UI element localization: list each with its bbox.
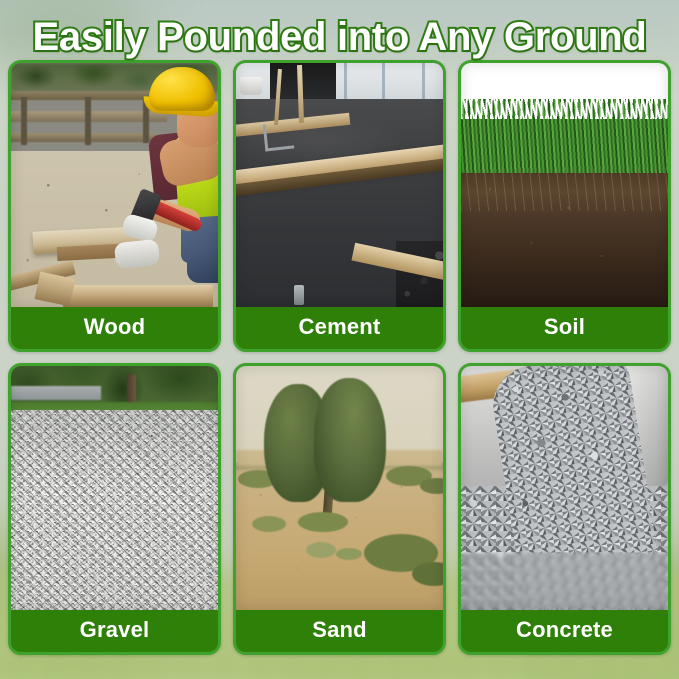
card-label-concrete: Concrete — [461, 610, 668, 652]
card-label-soil: Soil — [461, 307, 668, 349]
surface-card-concrete[interactable]: Concrete — [458, 363, 671, 655]
desert-sand-trees-photo — [236, 366, 443, 610]
page-title: Easily Pounded into Any Ground — [33, 15, 647, 60]
card-label-cement: Cement — [236, 307, 443, 349]
card-label-gravel: Gravel — [11, 610, 218, 652]
surface-card-cement[interactable]: Cement — [233, 60, 446, 352]
surface-card-sand[interactable]: Sand — [233, 363, 446, 655]
fresh-cement-slab-photo — [236, 63, 443, 307]
surface-card-wood[interactable]: Wood — [8, 60, 221, 352]
gravel-driveway-photo — [11, 366, 218, 610]
surface-card-grid: Wood — [8, 60, 671, 655]
card-label-sand: Sand — [236, 610, 443, 652]
poster-root: Easily Pounded into Any Ground — [0, 0, 679, 679]
surface-card-soil[interactable]: Soil — [458, 60, 671, 352]
grass-soil-cross-section-photo — [461, 63, 668, 307]
card-label-wood: Wood — [11, 307, 218, 349]
concrete-pour-photo — [461, 366, 668, 610]
title-banner: Easily Pounded into Any Ground — [0, 12, 679, 62]
worker-hammering-wood-photo — [11, 63, 218, 307]
surface-card-gravel[interactable]: Gravel — [8, 363, 221, 655]
